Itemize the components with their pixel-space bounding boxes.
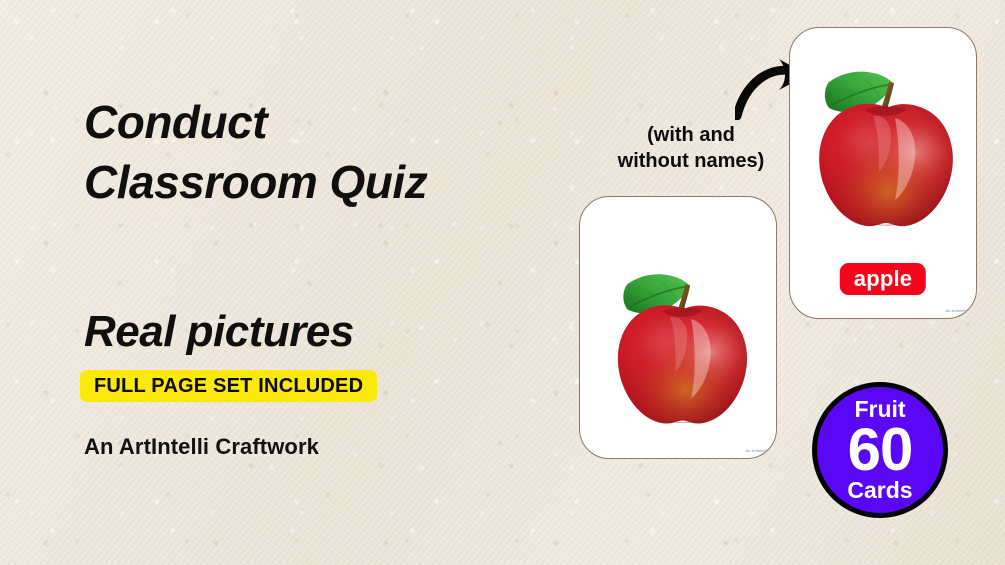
page-title: Conduct Classroom Quiz [84, 92, 544, 212]
apple-illustration [799, 60, 969, 238]
card-count-badge: Fruit 60 Cards [812, 382, 948, 518]
annotation-line-2: without names) [596, 148, 786, 174]
annotation-text: (with and without names) [596, 122, 786, 174]
card-watermark: An ArtIntelli [746, 449, 767, 454]
flashcard-without-name[interactable]: An ArtIntelli [579, 196, 777, 459]
brand-byline: An ArtIntelli Craftwork [84, 434, 319, 460]
headline-line-2: Classroom Quiz [84, 152, 544, 212]
full-page-set-badge: FULL PAGE SET INCLUDED [80, 370, 377, 402]
apple-image [598, 263, 763, 435]
annotation-line-1: (with and [596, 122, 786, 148]
flashcard-with-name[interactable]: apple An ArtIntelli [789, 27, 977, 319]
card-watermark: An ArtIntelli [946, 309, 967, 314]
count-badge-unit: Cards [847, 479, 912, 502]
word-label: apple [840, 263, 926, 295]
promo-banner: Conduct Classroom Quiz Real pictures FUL… [0, 0, 1005, 565]
subheading: Real pictures [84, 310, 354, 354]
apple-illustration [598, 263, 763, 435]
apple-image [799, 60, 969, 238]
count-badge-number: 60 [848, 419, 913, 480]
full-page-set-badge-label: FULL PAGE SET INCLUDED [94, 375, 363, 398]
headline-line-1: Conduct [84, 92, 544, 152]
